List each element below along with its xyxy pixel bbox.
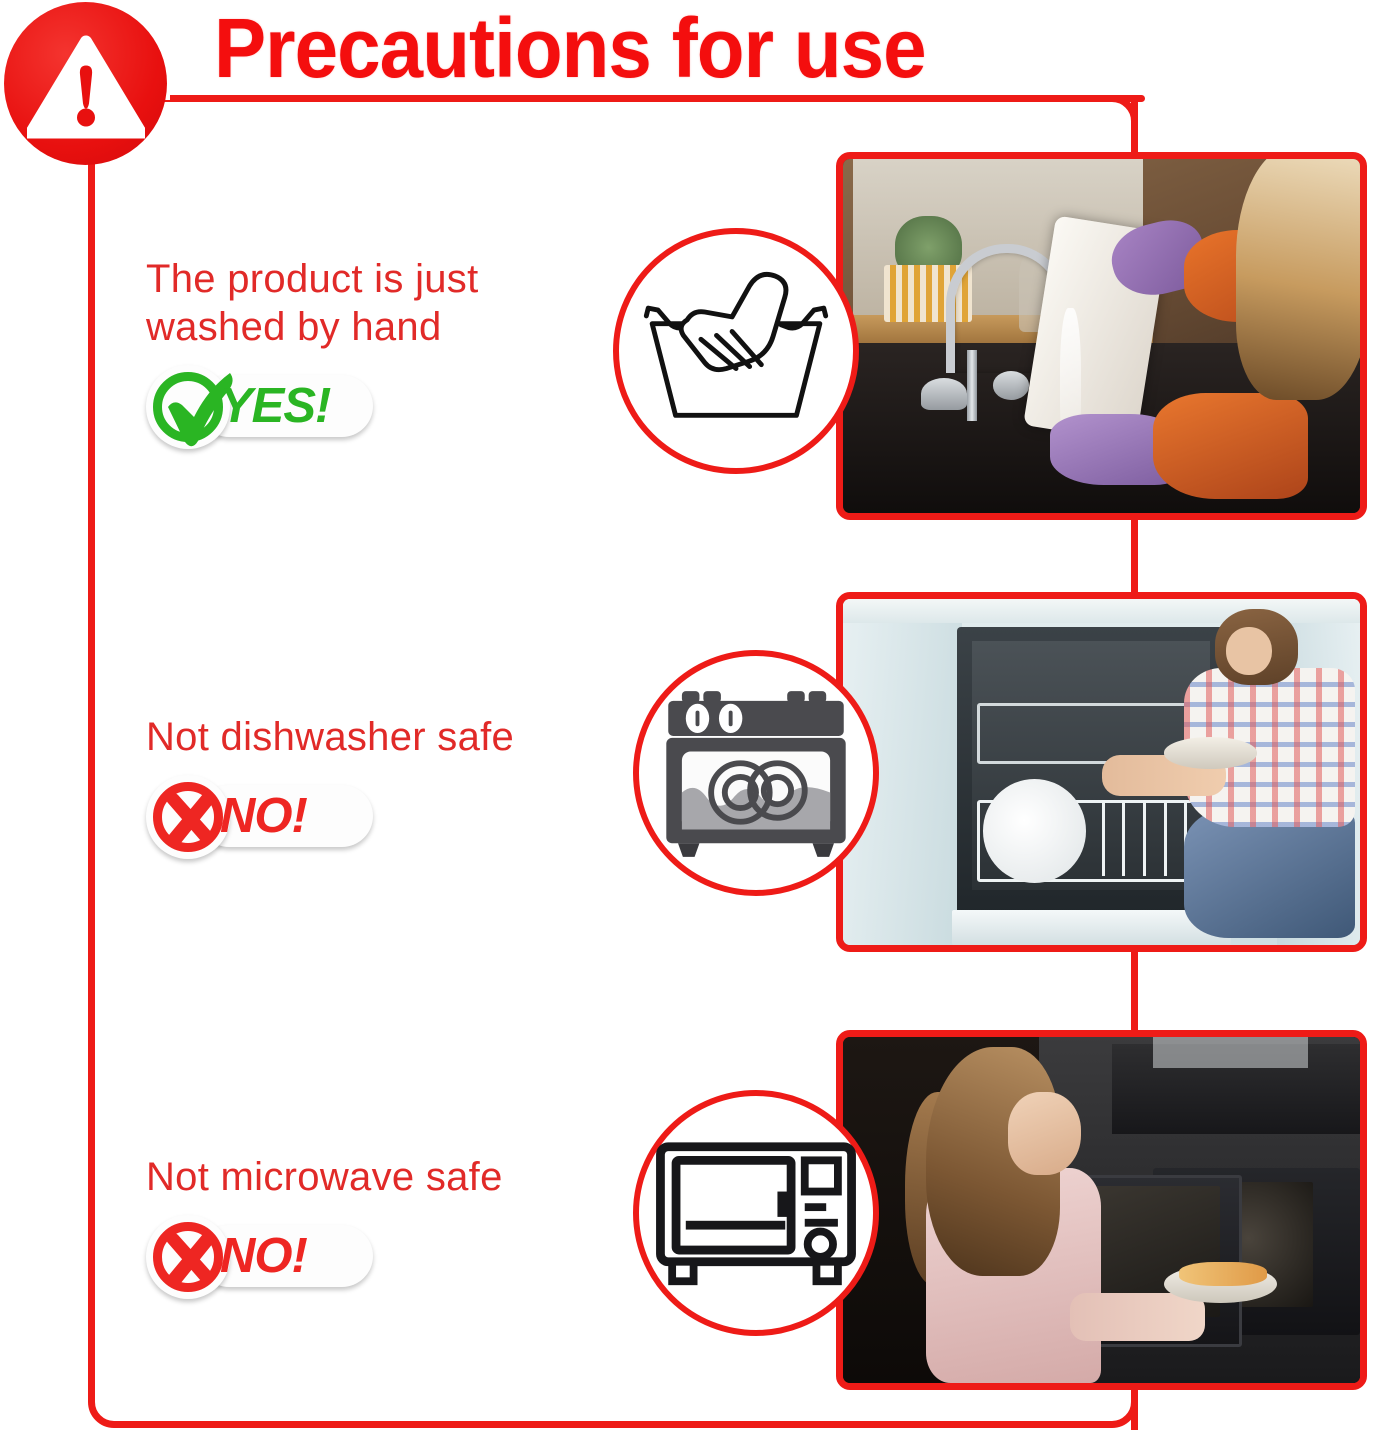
dishwasher-icon (633, 650, 879, 896)
caption-dishwasher: Not dishwasher safe NO! (146, 713, 616, 859)
caption-handwash: The product is just washed by hand YES! (146, 255, 576, 449)
warning-triangle-icon (4, 2, 167, 165)
caption-microwave: Not microwave safe NO! (146, 1153, 616, 1299)
connector-stub-2 (1131, 512, 1138, 600)
frame-mask-top (1135, 88, 1380, 102)
precautions-infographic: Precautions for use (0, 0, 1380, 1445)
hand-wash-basin-icon (613, 228, 859, 474)
caption-text: Not microwave safe (146, 1153, 616, 1201)
photo-dishwasher (836, 592, 1367, 952)
photo-microwave (836, 1030, 1367, 1390)
badge-label: YES! (220, 377, 330, 435)
badge-label: NO! (220, 787, 307, 845)
photo-handwash (836, 152, 1367, 520)
status-badge-yes: YES! (146, 363, 378, 449)
caption-text: The product is just washed by hand (146, 255, 576, 351)
caption-text: Not dishwasher safe (146, 713, 616, 761)
status-badge-no-dishwasher: NO! (146, 773, 378, 859)
connector-stub-3 (1131, 944, 1138, 1036)
page-title: Precautions for use (214, 3, 926, 93)
microwave-oven-icon (633, 1090, 879, 1336)
header-rule (170, 95, 1145, 102)
connector-stub-1 (1131, 95, 1138, 157)
badge-label: NO! (220, 1227, 307, 1285)
status-badge-no-microwave: NO! (146, 1213, 378, 1299)
